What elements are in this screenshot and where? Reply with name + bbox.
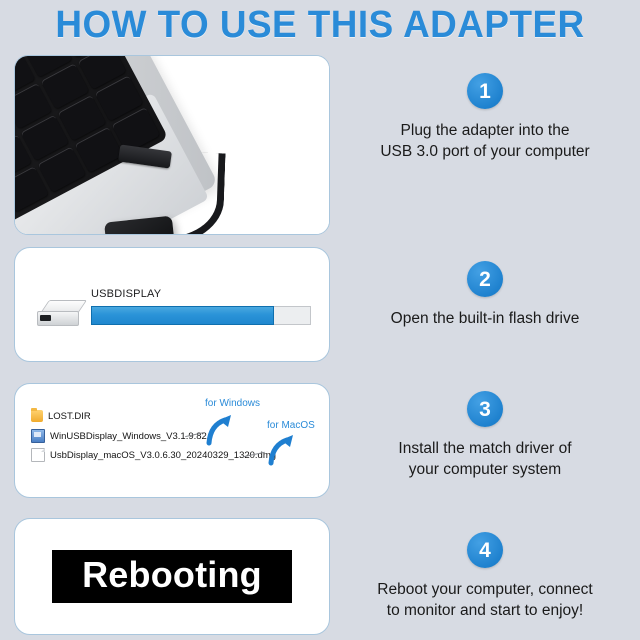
step-3-line-2: your computer system: [398, 460, 571, 481]
step-2-badge: 2: [467, 261, 503, 297]
file-name: WinUSBDisplay_Windows_V3.1.9.82: [50, 431, 207, 442]
file-list-item[interactable]: WinUSBDisplay_Windows_V3.1.9.82: [31, 429, 207, 443]
document-icon: [31, 448, 45, 462]
step-2-illustration-panel: USBDISPLAY: [14, 247, 330, 362]
step-1-text-column: 1 Plug the adapter into the USB 3.0 port…: [330, 55, 640, 235]
laptop-adapter-photo: [15, 56, 329, 234]
step-row-2: USBDISPLAY 2 Open the built-in flash dri…: [0, 247, 640, 362]
page-title: HOW TO USE THIS ADAPTER: [10, 2, 631, 48]
capacity-bar: [91, 306, 311, 325]
capacity-bar-free: [274, 306, 311, 325]
step-3-text-column: 3 Install the match driver of your compu…: [330, 383, 640, 498]
step-4-illustration-panel: Rebooting: [14, 518, 330, 635]
application-icon: [31, 429, 45, 443]
file-name: UsbDisplay_macOS_V3.0.6.30_20240329_1320…: [50, 450, 276, 461]
flash-drive-view: USBDISPLAY: [15, 248, 329, 361]
arrow-up-icon: [265, 432, 299, 466]
step-4-line-2: to monitor and start to enjoy!: [377, 601, 592, 622]
file-name: LOST.DIR: [48, 411, 91, 422]
step-4-badge: 4: [467, 532, 503, 568]
annotation-for-windows: for Windows: [205, 398, 260, 409]
volume-label: USBDISPLAY: [91, 288, 161, 300]
folder-icon: [31, 410, 43, 422]
file-list-item[interactable]: LOST.DIR: [31, 410, 91, 422]
driver-file-list: LOST.DIR WinUSBDisplay_Windows_V3.1.9.82…: [15, 384, 329, 497]
step-3-line-1: Install the match driver of: [398, 439, 571, 460]
step-2-description: Open the built-in flash drive: [391, 309, 580, 330]
step-1-illustration-panel: [14, 55, 330, 235]
step-1-line-2: USB 3.0 port of your computer: [380, 142, 589, 163]
step-1-description: Plug the adapter into the USB 3.0 port o…: [380, 121, 589, 163]
arrow-up-icon: [203, 412, 237, 446]
step-1-line-1: Plug the adapter into the: [380, 121, 589, 142]
step-4-description: Reboot your computer, connect to monitor…: [377, 580, 592, 622]
step-1-badge: 1: [467, 73, 503, 109]
step-4-line-1: Reboot your computer, connect: [377, 580, 592, 601]
step-2-line-1: Open the built-in flash drive: [391, 309, 580, 330]
step-3-badge: 3: [467, 391, 503, 427]
step-3-description: Install the match driver of your compute…: [398, 439, 571, 481]
step-row-4: Rebooting 4 Reboot your computer, connec…: [0, 518, 640, 635]
file-list-item[interactable]: UsbDisplay_macOS_V3.0.6.30_20240329_1320…: [31, 448, 276, 462]
step-row-3: LOST.DIR WinUSBDisplay_Windows_V3.1.9.82…: [0, 383, 640, 498]
step-3-illustration-panel: LOST.DIR WinUSBDisplay_Windows_V3.1.9.82…: [14, 383, 330, 498]
capacity-bar-used: [91, 306, 274, 325]
flash-drive-icon: [37, 300, 81, 326]
rebooting-banner: Rebooting: [52, 550, 292, 603]
rebooting-screen: Rebooting: [15, 519, 329, 634]
annotation-for-macos: for MacOS: [267, 420, 315, 431]
step-row-1: 1 Plug the adapter into the USB 3.0 port…: [0, 55, 640, 235]
step-4-text-column: 4 Reboot your computer, connect to monit…: [330, 518, 640, 635]
step-2-text-column: 2 Open the built-in flash drive: [330, 247, 640, 362]
